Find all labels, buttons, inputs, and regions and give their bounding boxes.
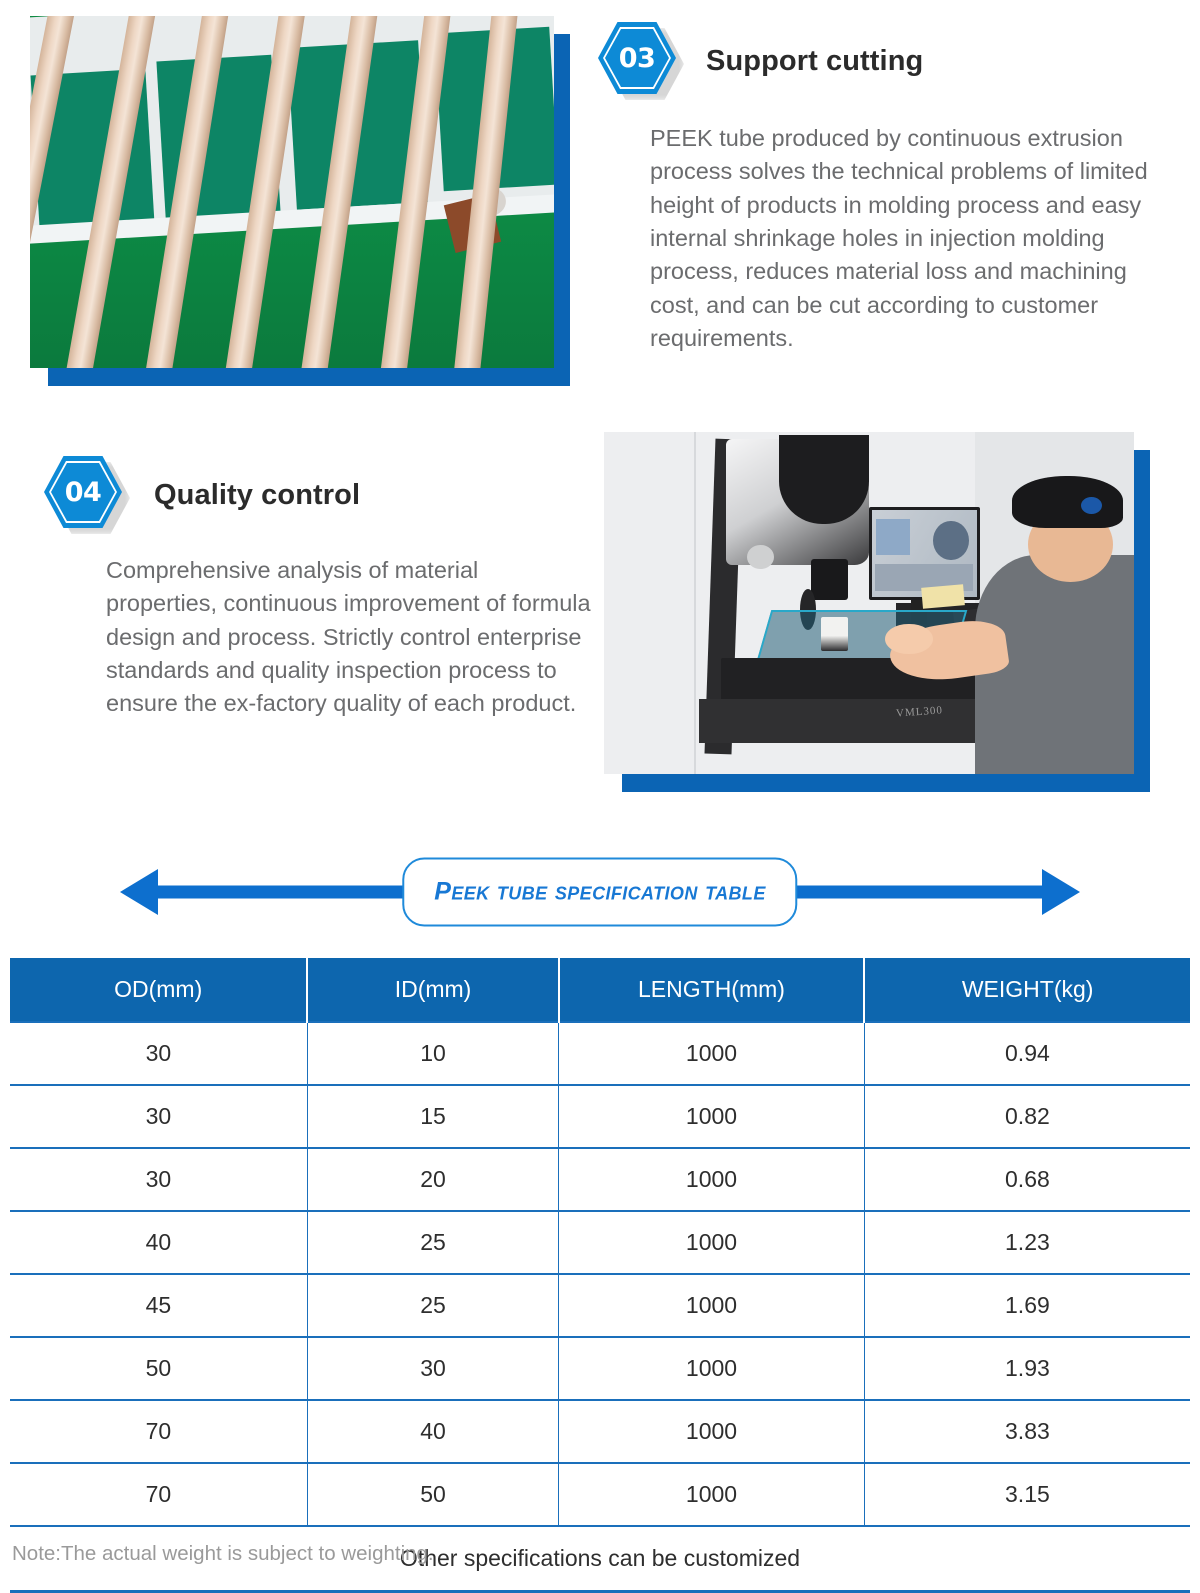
column-header-length: LENGTH(mm) <box>559 958 865 1022</box>
table-header-row: OD(mm) ID(mm) LENGTH(mm) WEIGHT(kg) <box>10 958 1190 1022</box>
section-title: Quality control <box>154 479 360 512</box>
cell-length: 1000 <box>559 1463 865 1526</box>
banner-title: Peek tube specification table <box>434 878 765 907</box>
arrow-left-head-icon <box>120 869 158 915</box>
column-header-id: ID(mm) <box>307 958 558 1022</box>
spec-table-container: OD(mm) ID(mm) LENGTH(mm) WEIGHT(kg) 30 1… <box>10 958 1190 1593</box>
cell-weight: 3.15 <box>864 1463 1190 1526</box>
cell-id: 25 <box>307 1274 558 1337</box>
cell-weight: 0.94 <box>864 1022 1190 1085</box>
table-note: Note:The actual weight is subject to wei… <box>12 1542 434 1566</box>
photo-frame-bottom-bar <box>48 368 570 386</box>
step-number: 03 <box>598 22 676 94</box>
table-row: 30 10 1000 0.94 <box>10 1022 1190 1085</box>
cell-length: 1000 <box>559 1022 865 1085</box>
cell-length: 1000 <box>559 1400 865 1463</box>
quality-inspection-photo-frame: VML300 <box>604 432 1150 792</box>
section-heading: 04 Quality control <box>44 456 596 534</box>
section-heading: 03 Support cutting <box>598 22 1170 100</box>
spec-table-banner: Peek tube specification table <box>0 848 1200 936</box>
column-header-weight: WEIGHT(kg) <box>864 958 1190 1022</box>
cell-od: 50 <box>10 1337 307 1400</box>
hexagon-step-badge-04: 04 <box>44 456 130 534</box>
cell-length: 1000 <box>559 1211 865 1274</box>
cell-weight: 1.23 <box>864 1211 1190 1274</box>
table-row: 45 25 1000 1.69 <box>10 1274 1190 1337</box>
cell-od: 45 <box>10 1274 307 1337</box>
cell-weight: 1.69 <box>864 1274 1190 1337</box>
cell-od: 70 <box>10 1463 307 1526</box>
cell-weight: 0.68 <box>864 1148 1190 1211</box>
cell-id: 30 <box>307 1337 558 1400</box>
photo-frame-right-bar <box>554 34 570 386</box>
table-row: 70 40 1000 3.83 <box>10 1400 1190 1463</box>
cell-id: 25 <box>307 1211 558 1274</box>
section-body-text: Comprehensive analysis of material prope… <box>106 554 594 721</box>
arrow-right-head-icon <box>1042 869 1080 915</box>
cell-length: 1000 <box>559 1085 865 1148</box>
table-row: 50 30 1000 1.93 <box>10 1337 1190 1400</box>
section-title: Support cutting <box>706 45 923 78</box>
table-row: 70 50 1000 3.15 <box>10 1463 1190 1526</box>
table-row: 30 15 1000 0.82 <box>10 1085 1190 1148</box>
cell-weight: 1.93 <box>864 1337 1190 1400</box>
cell-weight: 0.82 <box>864 1085 1190 1148</box>
cell-length: 1000 <box>559 1274 865 1337</box>
table-body: 30 10 1000 0.94 30 15 1000 0.82 30 20 10… <box>10 1022 1190 1592</box>
section-support-cutting: 03 Support cutting PEEK tube produced by… <box>598 22 1170 356</box>
cell-id: 40 <box>307 1400 558 1463</box>
column-header-od: OD(mm) <box>10 958 307 1022</box>
top-section: 03 Support cutting PEEK tube produced by… <box>0 0 1200 430</box>
cell-length: 1000 <box>559 1148 865 1211</box>
photo-frame-bottom-bar <box>622 774 1150 792</box>
cell-od: 30 <box>10 1022 307 1085</box>
cell-weight: 3.83 <box>864 1400 1190 1463</box>
banner-pill: Peek tube specification table <box>402 858 797 927</box>
cell-od: 40 <box>10 1211 307 1274</box>
hexagon-step-badge-03: 03 <box>598 22 684 100</box>
peek-tubes-photo-frame <box>30 16 570 386</box>
quality-inspection-photo: VML300 <box>604 432 1134 774</box>
cell-od: 70 <box>10 1400 307 1463</box>
peek-tubes-photo <box>30 16 554 368</box>
cell-length: 1000 <box>559 1337 865 1400</box>
spec-table: OD(mm) ID(mm) LENGTH(mm) WEIGHT(kg) 30 1… <box>10 958 1190 1593</box>
cell-id: 15 <box>307 1085 558 1148</box>
step-number: 04 <box>44 456 122 528</box>
cell-od: 30 <box>10 1148 307 1211</box>
table-row: 30 20 1000 0.68 <box>10 1148 1190 1211</box>
cell-id: 20 <box>307 1148 558 1211</box>
cell-od: 30 <box>10 1085 307 1148</box>
table-row: 40 25 1000 1.23 <box>10 1211 1190 1274</box>
photo-frame-right-bar <box>1134 450 1150 792</box>
cell-id: 10 <box>307 1022 558 1085</box>
section-quality-control: 04 Quality control Comprehensive analysi… <box>44 456 596 721</box>
cell-id: 50 <box>307 1463 558 1526</box>
section-body-text: PEEK tube produced by continuous extrusi… <box>650 122 1170 356</box>
